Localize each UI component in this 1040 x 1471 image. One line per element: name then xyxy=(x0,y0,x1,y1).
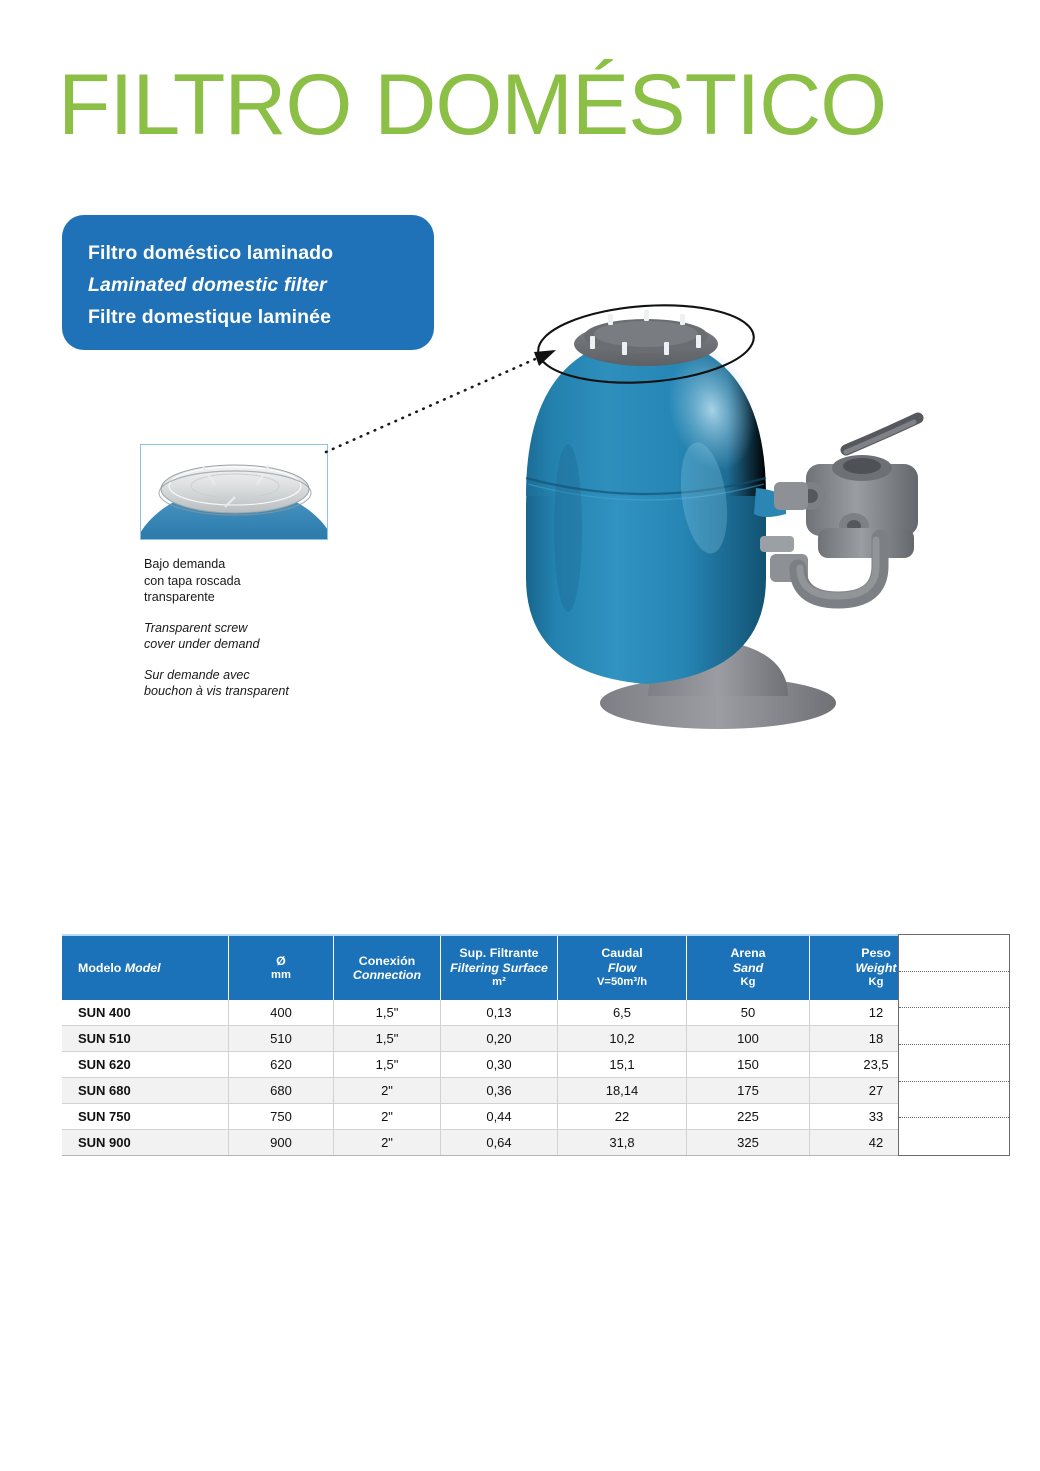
col-header-superficie: Sup. Filtrante Filtering Surface m² xyxy=(441,935,558,1000)
cell-model: SUN 400 xyxy=(62,1000,229,1026)
blank-notes-row[interactable] xyxy=(899,972,1009,1009)
cell-diametro: 750 xyxy=(229,1104,334,1130)
cell-conexion: 2" xyxy=(334,1130,441,1156)
caption-en-line1: Transparent screw xyxy=(144,620,374,637)
cell-conexion: 2" xyxy=(334,1104,441,1130)
col-header-modelo-en: Model xyxy=(125,961,161,975)
cell-caudal: 10,2 xyxy=(558,1026,687,1052)
caption-es-line1: Bajo demanda xyxy=(144,556,374,573)
specifications-table: Modelo Model Ø mm Conexión Connection Su… xyxy=(62,934,942,1156)
screw-cover-thumbnail xyxy=(140,444,328,540)
cell-arena: 225 xyxy=(687,1104,810,1130)
table-row: SUN 6806802"0,3618,1417527 xyxy=(62,1078,942,1104)
specifications-table-wrapper: Modelo Model Ø mm Conexión Connection Su… xyxy=(62,934,894,1156)
cell-arena: 50 xyxy=(687,1000,810,1026)
table-row: SUN 6206201,5"0,3015,115023,5 xyxy=(62,1052,942,1078)
col-header-diametro-es: Ø xyxy=(231,954,331,969)
cell-diametro: 400 xyxy=(229,1000,334,1026)
col-header-caudal-en: Flow xyxy=(560,961,684,976)
col-header-modelo: Modelo Model xyxy=(62,935,229,1000)
cell-superficie: 0,20 xyxy=(441,1026,558,1052)
caption-es-line3: transparente xyxy=(144,589,374,606)
table-row: SUN 9009002"0,6431,832542 xyxy=(62,1130,942,1156)
cell-diametro: 620 xyxy=(229,1052,334,1078)
cell-superficie: 0,13 xyxy=(441,1000,558,1026)
cell-model: SUN 620 xyxy=(62,1052,229,1078)
cell-superficie: 0,64 xyxy=(441,1130,558,1156)
col-header-diametro-unit: mm xyxy=(231,968,331,983)
cell-conexion: 2" xyxy=(334,1078,441,1104)
col-header-conexion-es: Conexión xyxy=(336,954,438,969)
col-header-superficie-en: Filtering Surface xyxy=(443,961,555,976)
page-title: FILTRO DOMÉSTICO xyxy=(58,62,886,148)
cell-caudal: 6,5 xyxy=(558,1000,687,1026)
col-header-diametro: Ø mm xyxy=(229,935,334,1000)
cell-arena: 175 xyxy=(687,1078,810,1104)
cell-conexion: 1,5" xyxy=(334,1052,441,1078)
cell-diametro: 680 xyxy=(229,1078,334,1104)
badge-label-french: Filtre domestique laminée xyxy=(88,301,434,333)
cell-arena: 325 xyxy=(687,1130,810,1156)
table-body: SUN 4004001,5"0,136,55012SUN 5105101,5"0… xyxy=(62,1000,942,1156)
col-header-conexion-en: Connection xyxy=(336,968,438,983)
cell-caudal: 22 xyxy=(558,1104,687,1130)
multiport-valve xyxy=(770,418,918,600)
cell-model: SUN 900 xyxy=(62,1130,229,1156)
callout-arrow-head xyxy=(534,350,556,366)
caption-english: Transparent screw cover under demand xyxy=(144,620,374,653)
blank-notes-row[interactable] xyxy=(899,935,1009,972)
screw-cover-thumbnail-image xyxy=(141,445,328,540)
blank-notes-row[interactable] xyxy=(899,1045,1009,1082)
cell-model: SUN 750 xyxy=(62,1104,229,1130)
cell-caudal: 15,1 xyxy=(558,1052,687,1078)
table-header: Modelo Model Ø mm Conexión Connection Su… xyxy=(62,935,942,1000)
col-header-caudal-es: Caudal xyxy=(560,946,684,961)
cell-superficie: 0,44 xyxy=(441,1104,558,1130)
cell-conexion: 1,5" xyxy=(334,1026,441,1052)
col-header-superficie-unit: m² xyxy=(443,975,555,990)
cell-model: SUN 510 xyxy=(62,1026,229,1052)
col-header-caudal-unit: V=50m³/h xyxy=(560,975,684,990)
caption-spanish: Bajo demanda con tapa roscada transparen… xyxy=(144,556,374,606)
cell-caudal: 31,8 xyxy=(558,1130,687,1156)
table-row: SUN 5105101,5"0,2010,210018 xyxy=(62,1026,942,1052)
cell-arena: 100 xyxy=(687,1026,810,1052)
cell-conexion: 1,5" xyxy=(334,1000,441,1026)
blank-notes-row[interactable] xyxy=(899,1008,1009,1045)
col-header-arena: Arena Sand Kg xyxy=(687,935,810,1000)
col-header-caudal: Caudal Flow V=50m³/h xyxy=(558,935,687,1000)
callout-arrow-line xyxy=(326,356,542,452)
caption-french: Sur demande avec bouchon à vis transpare… xyxy=(144,667,374,700)
cell-caudal: 18,14 xyxy=(558,1078,687,1104)
caption-es-line2: con tapa roscada xyxy=(144,573,374,590)
badge-label-english: Laminated domestic filter xyxy=(88,269,434,301)
caption-en-line2: cover under demand xyxy=(144,636,374,653)
badge-label-spanish: Filtro doméstico laminado xyxy=(88,237,434,269)
table-row: SUN 4004001,5"0,136,55012 xyxy=(62,1000,942,1026)
col-header-arena-en: Sand xyxy=(689,961,807,976)
cell-superficie: 0,30 xyxy=(441,1052,558,1078)
cell-diametro: 510 xyxy=(229,1026,334,1052)
blank-notes-row[interactable] xyxy=(899,1082,1009,1119)
table-header-row: Modelo Model Ø mm Conexión Connection Su… xyxy=(62,935,942,1000)
col-header-superficie-es: Sup. Filtrante xyxy=(443,946,555,961)
callout-arrow xyxy=(320,330,580,460)
col-header-arena-es: Arena xyxy=(689,946,807,961)
cell-arena: 150 xyxy=(687,1052,810,1078)
thumbnail-caption: Bajo demanda con tapa roscada transparen… xyxy=(144,556,374,700)
col-header-conexion: Conexión Connection xyxy=(334,935,441,1000)
table-row: SUN 7507502"0,442222533 xyxy=(62,1104,942,1130)
blank-notes-box xyxy=(898,934,1010,1156)
caption-fr-line2: bouchon à vis transparent xyxy=(144,683,374,700)
cell-superficie: 0,36 xyxy=(441,1078,558,1104)
caption-fr-line1: Sur demande avec xyxy=(144,667,374,684)
col-header-arena-unit: Kg xyxy=(689,975,807,990)
blank-notes-row[interactable] xyxy=(899,1118,1009,1155)
cell-diametro: 900 xyxy=(229,1130,334,1156)
col-header-modelo-es: Modelo xyxy=(78,961,121,975)
cell-model: SUN 680 xyxy=(62,1078,229,1104)
